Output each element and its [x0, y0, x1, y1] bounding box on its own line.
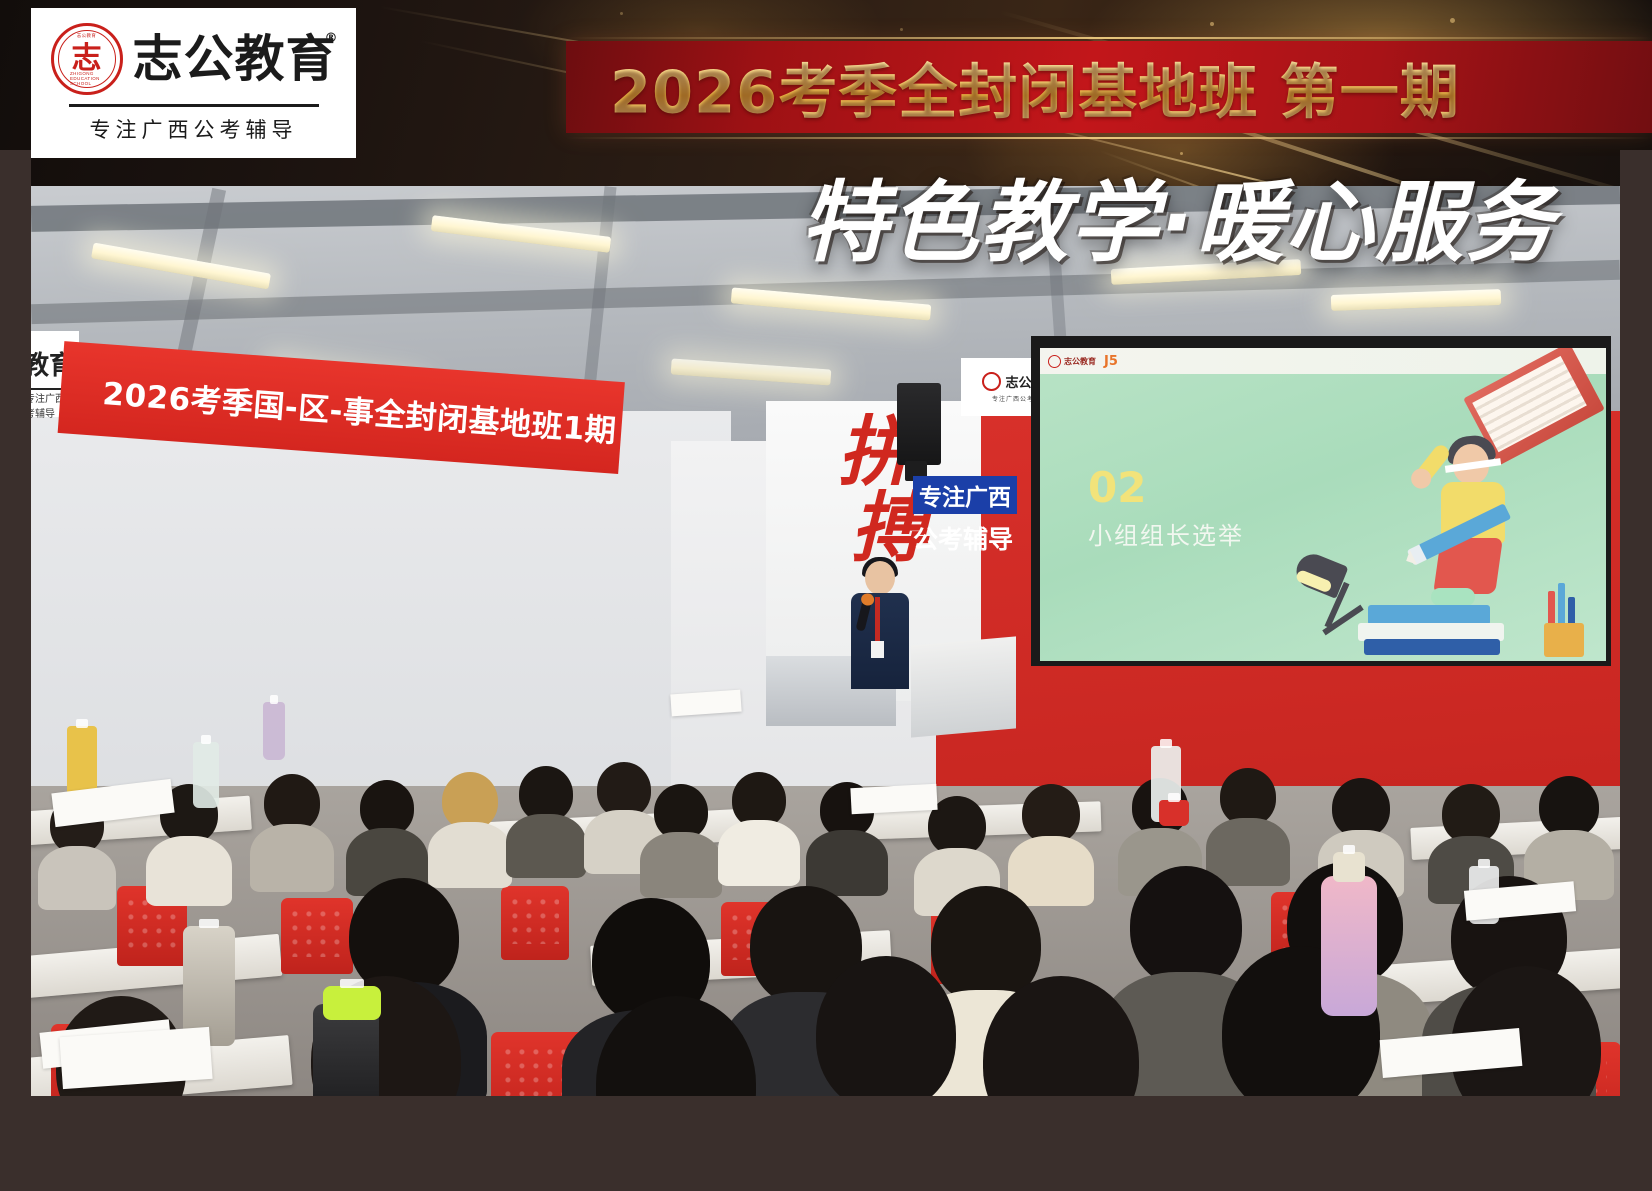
wall-sign-seal-icon	[982, 372, 1001, 391]
seal-character: 志	[72, 44, 102, 74]
podium	[911, 636, 1016, 737]
slide-number: 02	[1088, 463, 1146, 512]
logo-divider	[69, 104, 319, 107]
school-seal-icon: 志公教育 志 ZHIGONG EDUCATION SCHOOL	[51, 23, 123, 95]
wall-slogan-line1: 专注广西	[913, 476, 1017, 514]
slide-person-illustration	[1401, 438, 1521, 613]
seal-top-text: 志公教育	[77, 33, 97, 39]
wall-banner-text: 2026考季国-区-事全封闭基地班1期	[59, 365, 618, 451]
headline-ribbon: 2026考季全封闭基地班 第一期	[566, 41, 1652, 133]
presenter	[849, 561, 911, 691]
slide-content: 志公教育 J5 02 小组组长选举	[1040, 348, 1606, 661]
brand-name-text: 志公教育	[133, 30, 337, 88]
registered-mark-icon: ®	[325, 32, 339, 45]
brand-name: 志公教育 ®	[133, 34, 337, 84]
poster-root: 志公教育 志 ZHIGONG EDUCATION SCHOOL 志公教育 ® 专…	[0, 0, 1652, 1191]
wall-slogan: 专注广西 公考辅导	[913, 476, 1043, 556]
slide-lamp-icon	[1290, 547, 1376, 643]
projection-screen: 志公教育 J5 02 小组组长选举	[1031, 336, 1611, 666]
brand-tagline: 专注广西公考辅导	[90, 114, 298, 144]
calligraphy-subtitle: 特色教学·暖心服务	[800, 152, 1555, 279]
slide-pen-cup-icon	[1536, 595, 1592, 657]
slide-header-mark: J5	[1104, 354, 1118, 369]
slide-title: 小组组长选举	[1088, 516, 1244, 551]
slide-books-stack	[1354, 603, 1514, 655]
ceiling-speaker	[897, 383, 941, 465]
classroom-photo: 教育 专注广西公考辅导 2026考季国-区-事全封闭基地班1期 拼 搏 志公教育…	[31, 186, 1620, 1096]
brand-logo: 志公教育 志 ZHIGONG EDUCATION SCHOOL 志公教育 ® 专…	[31, 8, 356, 158]
slide-logo-icon	[1048, 355, 1061, 368]
wall-slogan-line2: 公考辅导	[913, 520, 1043, 556]
headline-text: 2026考季全封闭基地班 第一期	[610, 45, 1460, 130]
slide-header-logo: 志公教育	[1064, 356, 1096, 367]
